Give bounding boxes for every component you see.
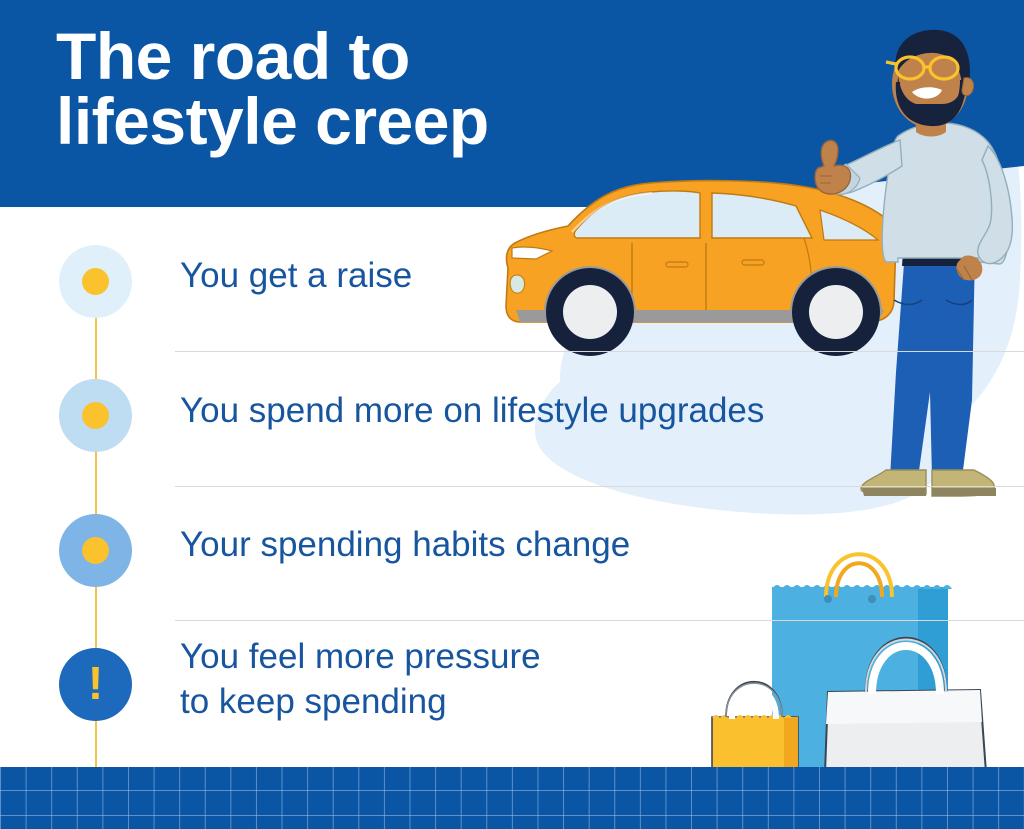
step-label-2: You spend more on lifestyle upgrades	[180, 389, 764, 434]
step-divider-2	[175, 486, 1024, 487]
page-title: The road to lifestyle creep	[56, 24, 616, 153]
step-divider-3	[175, 620, 1024, 621]
steps-timeline: You get a raise You spend more on lifest…	[0, 207, 1024, 767]
step-divider-1	[175, 351, 1024, 352]
step-label-1: You get a raise	[180, 254, 412, 299]
exclamation-icon: !	[88, 660, 103, 706]
step-label-4: You feel more pressure to keep spending	[180, 635, 541, 725]
header-banner: The road to lifestyle creep	[0, 0, 1024, 215]
dot-icon	[82, 268, 109, 295]
step-marker-4: !	[59, 648, 132, 721]
step-marker-1	[59, 245, 132, 318]
infographic-canvas: The road to lifestyle creep	[0, 0, 1024, 829]
dot-icon	[82, 402, 109, 429]
step-label-3: Your spending habits change	[180, 523, 630, 568]
step-marker-2	[59, 379, 132, 452]
footer-band	[0, 767, 1024, 829]
step-marker-3	[59, 514, 132, 587]
dot-icon	[82, 537, 109, 564]
footer-grid-pattern	[0, 767, 1024, 829]
